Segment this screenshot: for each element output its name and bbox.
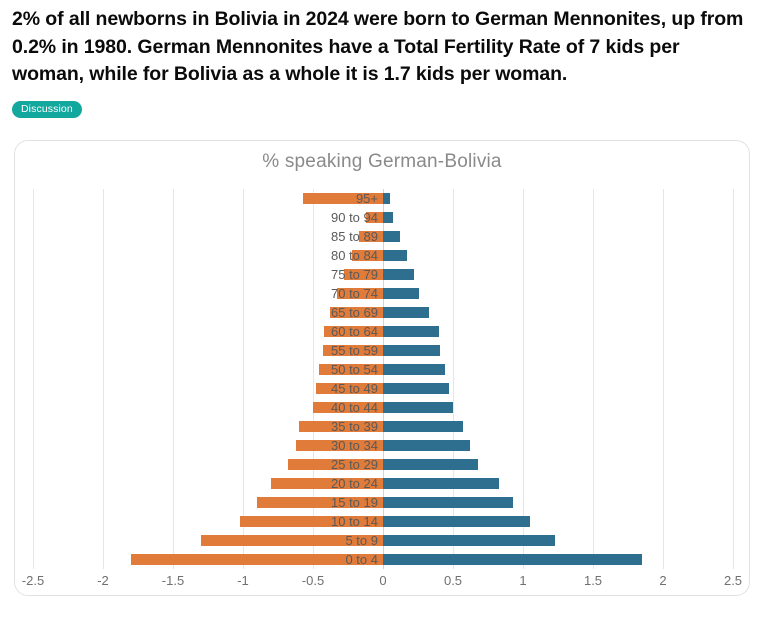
- bar-female[interactable]: [383, 383, 449, 394]
- chart-row: 10 to 14: [15, 512, 750, 531]
- age-group-label: 80 to 84: [273, 246, 383, 265]
- age-group-label: 40 to 44: [273, 398, 383, 417]
- bar-female[interactable]: [383, 250, 407, 261]
- chart-row: 85 to 89: [15, 227, 750, 246]
- bar-female[interactable]: [383, 402, 453, 413]
- bar-female[interactable]: [383, 440, 470, 451]
- age-group-label: 0 to 4: [273, 550, 383, 569]
- chart-row: 20 to 24: [15, 474, 750, 493]
- chart-plot-area: 95+90 to 9485 to 8980 to 8475 to 7970 to…: [15, 189, 750, 569]
- chart-row: 90 to 94: [15, 208, 750, 227]
- bar-female[interactable]: [383, 478, 499, 489]
- chart-row: 95+: [15, 189, 750, 208]
- bar-female[interactable]: [383, 497, 513, 508]
- chart-row: 15 to 19: [15, 493, 750, 512]
- bar-female[interactable]: [383, 345, 440, 356]
- x-tick-label: 2.5: [724, 573, 742, 588]
- x-tick-label: 0.5: [444, 573, 462, 588]
- age-group-label: 65 to 69: [273, 303, 383, 322]
- chart-rows: 95+90 to 9485 to 8980 to 8475 to 7970 to…: [15, 189, 750, 569]
- x-tick-label: 0: [379, 573, 386, 588]
- bar-female[interactable]: [383, 554, 642, 565]
- age-group-label: 50 to 54: [273, 360, 383, 379]
- age-group-label: 10 to 14: [273, 512, 383, 531]
- x-tick-label: -2.5: [22, 573, 44, 588]
- discussion-badge[interactable]: Discussion: [12, 101, 82, 118]
- age-group-label: 85 to 89: [273, 227, 383, 246]
- chart-row: 35 to 39: [15, 417, 750, 436]
- x-axis: -2.5-2-1.5-1-0.500.511.522.5: [15, 573, 750, 595]
- badge-row: Discussion: [0, 89, 765, 119]
- bar-female[interactable]: [383, 421, 463, 432]
- chart-row: 40 to 44: [15, 398, 750, 417]
- chart-row: 70 to 74: [15, 284, 750, 303]
- x-tick-label: 2: [659, 573, 666, 588]
- chart-row: 0 to 4: [15, 550, 750, 569]
- age-group-label: 35 to 39: [273, 417, 383, 436]
- chart-row: 25 to 29: [15, 455, 750, 474]
- age-group-label: 15 to 19: [273, 493, 383, 512]
- bar-female[interactable]: [383, 459, 478, 470]
- age-group-label: 30 to 34: [273, 436, 383, 455]
- age-group-label: 70 to 74: [273, 284, 383, 303]
- chart-row: 80 to 84: [15, 246, 750, 265]
- age-group-label: 20 to 24: [273, 474, 383, 493]
- bar-female[interactable]: [383, 307, 429, 318]
- chart-row: 50 to 54: [15, 360, 750, 379]
- chart-title: % speaking German-Bolivia: [15, 151, 749, 173]
- chart-row: 60 to 64: [15, 322, 750, 341]
- x-tick-label: -1: [237, 573, 249, 588]
- x-tick-label: 1: [519, 573, 526, 588]
- chart-row: 5 to 9: [15, 531, 750, 550]
- post-text: 2% of all newborns in Bolivia in 2024 we…: [0, 0, 765, 89]
- bar-female[interactable]: [383, 364, 445, 375]
- age-group-label: 75 to 79: [273, 265, 383, 284]
- x-tick-label: -0.5: [302, 573, 324, 588]
- chart-row: 75 to 79: [15, 265, 750, 284]
- bar-female[interactable]: [383, 193, 390, 204]
- age-group-label: 60 to 64: [273, 322, 383, 341]
- chart-row: 65 to 69: [15, 303, 750, 322]
- bar-female[interactable]: [383, 288, 419, 299]
- x-tick-label: 1.5: [584, 573, 602, 588]
- bar-female[interactable]: [383, 212, 393, 223]
- chart-card: % speaking German-Bolivia 95+90 to 9485 …: [14, 140, 750, 596]
- age-group-label: 5 to 9: [273, 531, 383, 550]
- age-group-label: 25 to 29: [273, 455, 383, 474]
- x-tick-label: -1.5: [162, 573, 184, 588]
- chart-row: 45 to 49: [15, 379, 750, 398]
- bar-female[interactable]: [383, 516, 530, 527]
- bar-female[interactable]: [383, 269, 414, 280]
- age-group-label: 95+: [273, 189, 383, 208]
- age-group-label: 55 to 59: [273, 341, 383, 360]
- x-tick-label: -2: [97, 573, 109, 588]
- chart-row: 30 to 34: [15, 436, 750, 455]
- bar-female[interactable]: [383, 535, 555, 546]
- bar-female[interactable]: [383, 231, 400, 242]
- age-group-label: 90 to 94: [273, 208, 383, 227]
- chart-row: 55 to 59: [15, 341, 750, 360]
- age-group-label: 45 to 49: [273, 379, 383, 398]
- bar-female[interactable]: [383, 326, 439, 337]
